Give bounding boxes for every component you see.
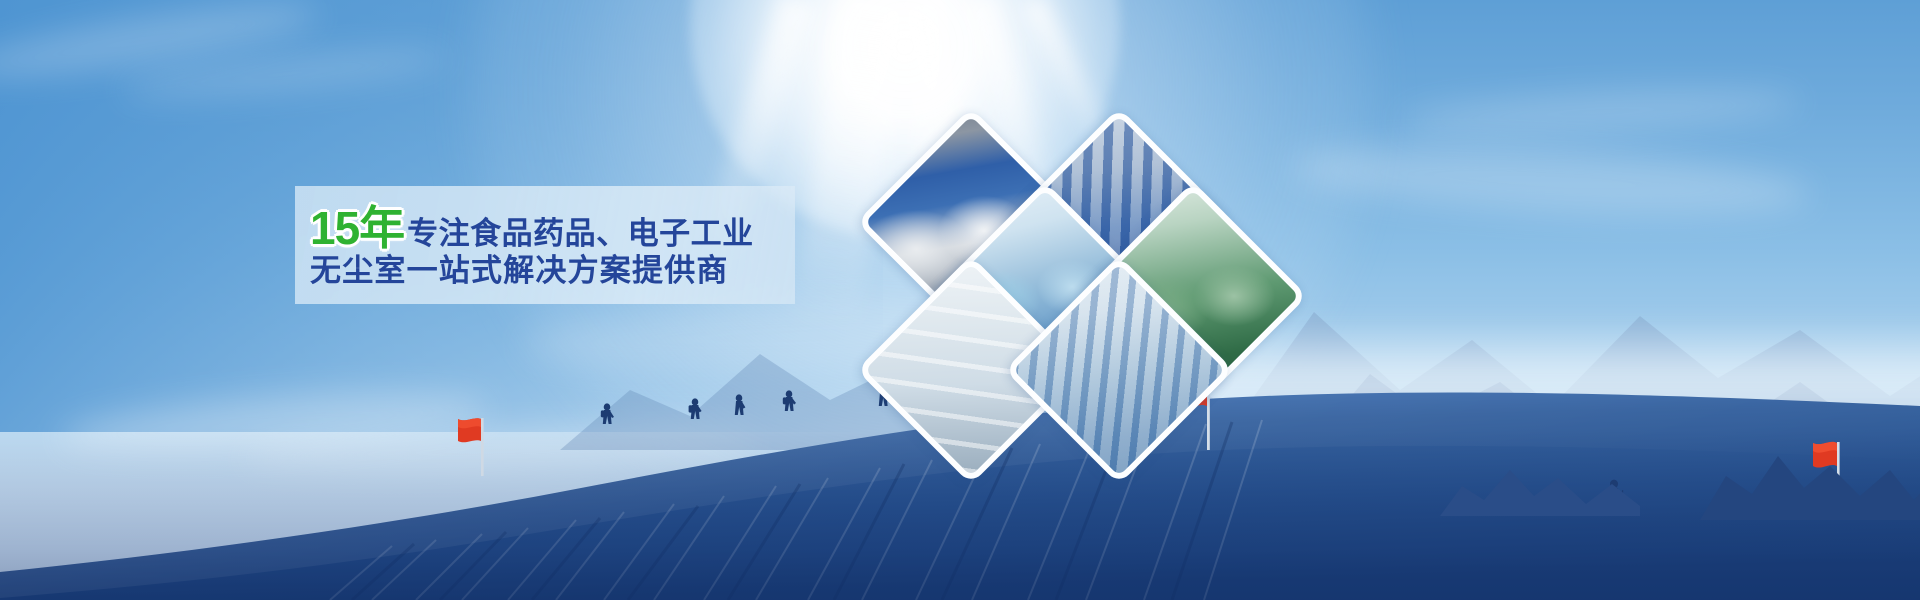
headline-line-1: 15年 专注食品药品、电子工业 <box>310 205 790 252</box>
headline-block: 15年 专注食品药品、电子工业 无尘室一站式解决方案提供商 <box>310 196 790 296</box>
rocky-outcrop <box>1440 446 1640 516</box>
headline-line-2: 无尘室一站式解决方案提供商 <box>310 256 790 288</box>
rocky-outcrop <box>1700 430 1920 520</box>
hero-banner: 15年 专注食品药品、电子工业 无尘室一站式解决方案提供商 <box>0 0 1920 600</box>
headline-line-1-rest: 专注食品药品、电子工业 <box>407 219 754 251</box>
red-flag-icon <box>452 414 498 476</box>
years-number: 15年 <box>310 205 404 252</box>
diamond-photo-collage <box>830 85 1280 475</box>
